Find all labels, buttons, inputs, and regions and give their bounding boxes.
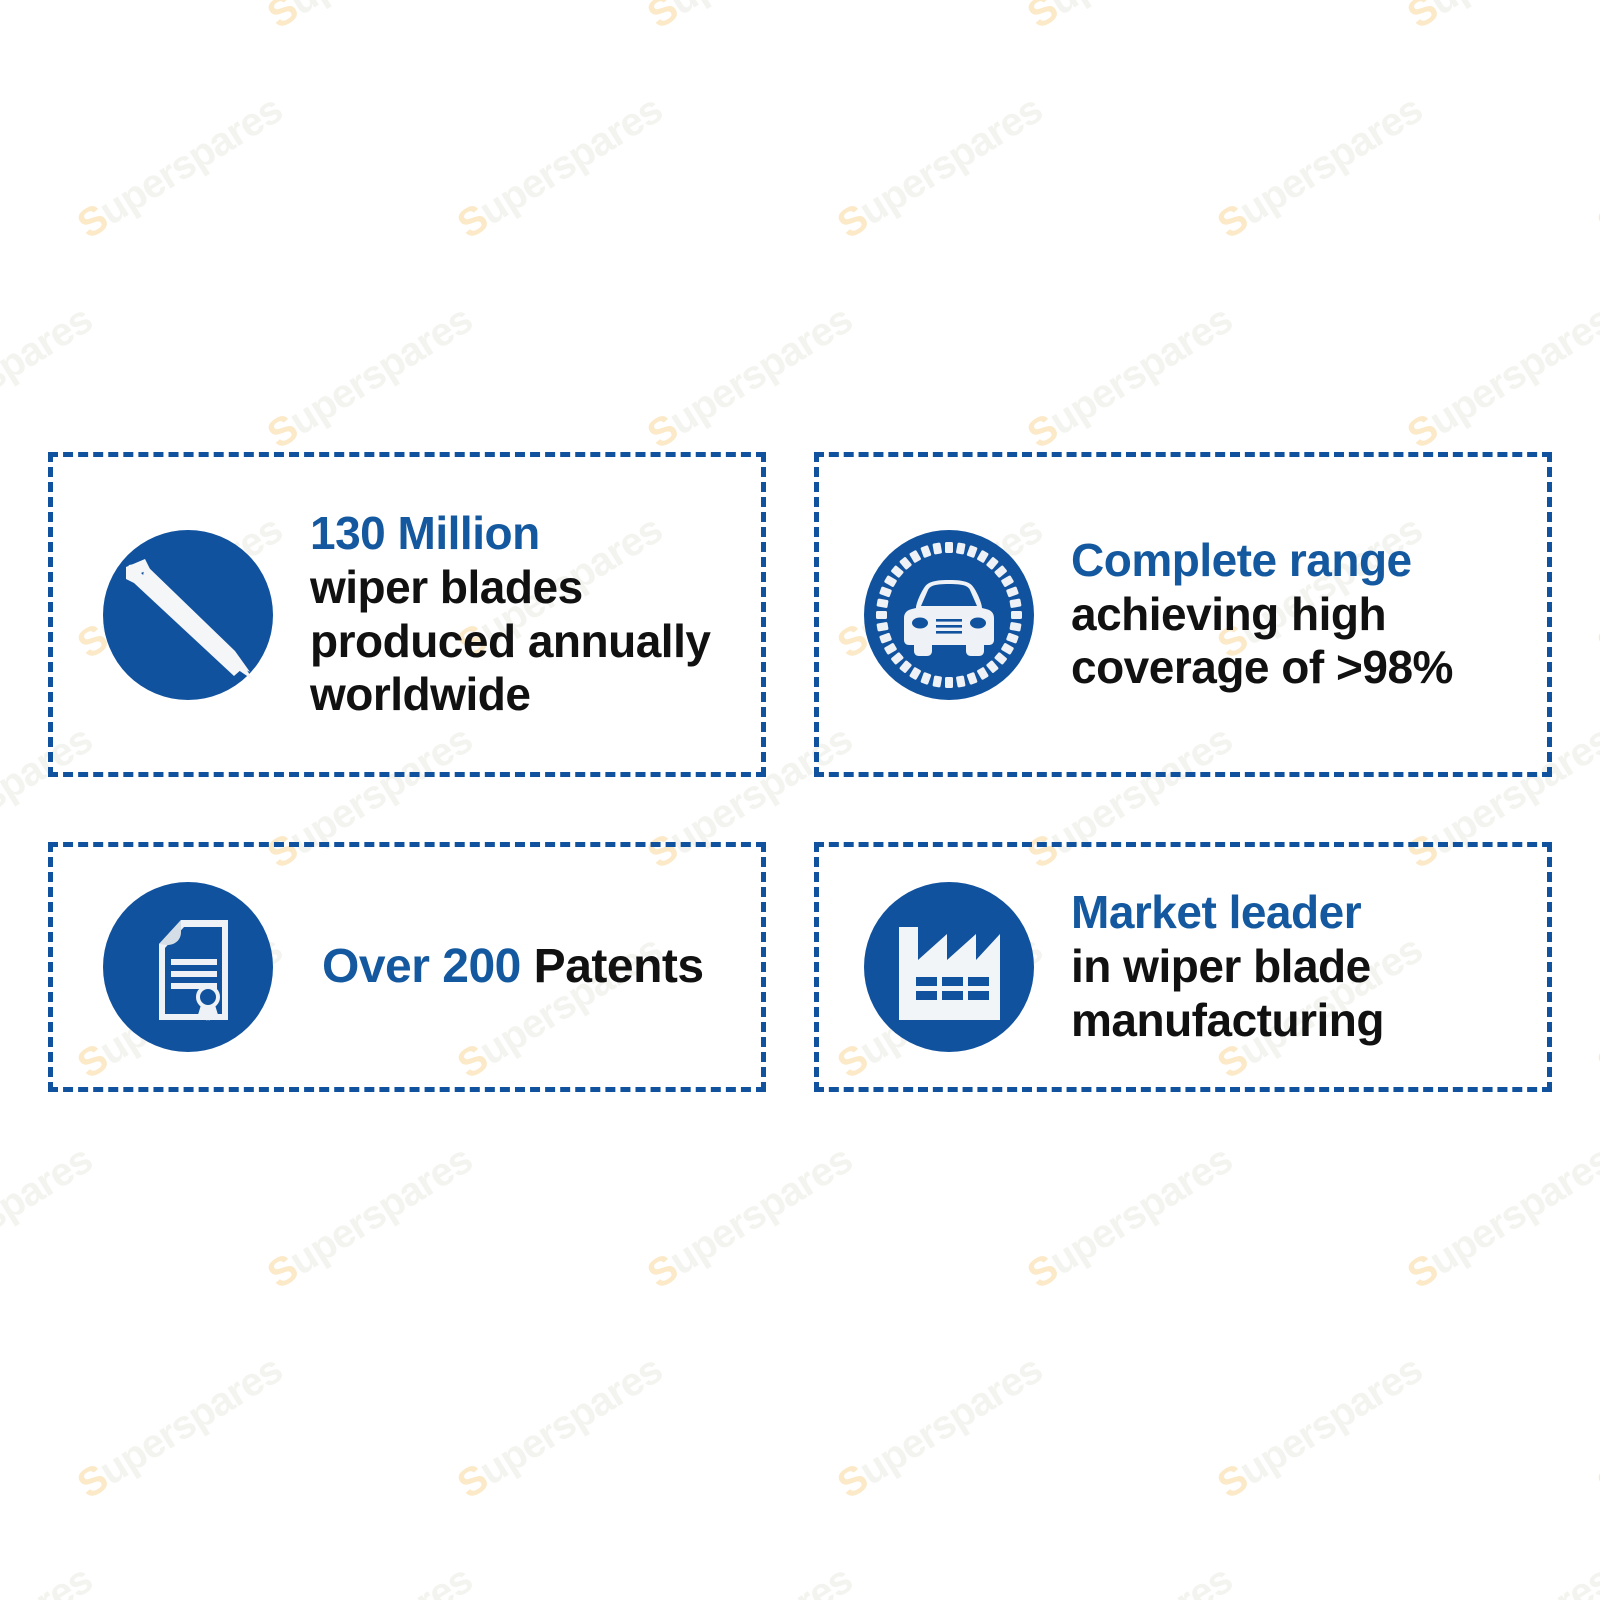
car-coverage-icon (849, 520, 1049, 710)
panel0-line-0: 130 Million (310, 507, 751, 561)
panel3-line-0: Market leader (1071, 886, 1537, 940)
panel2-blue-text: Over 200 (322, 940, 521, 993)
panel1-line-0: Complete range (1071, 534, 1537, 588)
factory-icon (849, 872, 1049, 1062)
panel-text-block: Complete range achieving high coverage o… (1049, 534, 1547, 695)
panel2-line-0: Over 200 Patents (322, 939, 751, 995)
panel0-line-1: wiper blades (310, 561, 751, 615)
feature-panel-coverage: Complete range achieving high coverage o… (814, 452, 1552, 777)
wiper-blade-icon (88, 520, 288, 710)
panel0-line-2: produced annually (310, 615, 751, 669)
panel-text-block: Market leader in wiper blade manufacturi… (1049, 886, 1547, 1047)
feature-panel-market-leader: Market leader in wiper blade manufacturi… (814, 842, 1552, 1092)
panel0-line-3: worldwide (310, 668, 751, 722)
panel3-line-1: in wiper blade (1071, 940, 1537, 994)
panel2-black-text: Patents (534, 940, 704, 993)
panel1-line-1: achieving high (1071, 588, 1537, 642)
panel-text-block: Over 200 Patents (288, 939, 761, 995)
feature-panel-wiper-production: 130 Million wiper blades produced annual… (48, 452, 766, 777)
feature-grid: 130 Million wiper blades produced annual… (0, 0, 1600, 1600)
panel3-line-2: manufacturing (1071, 994, 1537, 1048)
feature-panel-patents: Over 200 Patents (48, 842, 766, 1092)
panel1-line-2: coverage of >98% (1071, 641, 1537, 695)
patent-certificate-icon (88, 872, 288, 1062)
panel-text-block: 130 Million wiper blades produced annual… (288, 507, 761, 722)
